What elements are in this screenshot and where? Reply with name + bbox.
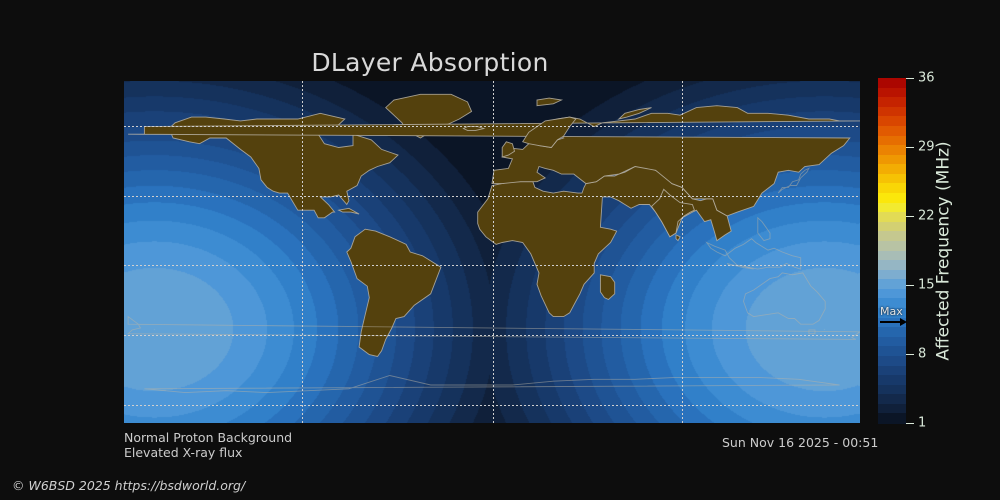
colorbar[interactable]: Max (878, 78, 906, 423)
coastline-overlay (124, 81, 860, 423)
colorbar-tick (906, 147, 914, 148)
landmass-new-zealand (128, 317, 860, 340)
colorbar-tick-label: 1 (918, 416, 926, 431)
max-marker: Max (878, 306, 918, 327)
landmass-japan (778, 168, 809, 193)
timestamp-text: Sun Nov 16 2025 - 00:51 (722, 435, 878, 450)
landmass-tasmania (809, 330, 815, 334)
colorbar-tick (906, 216, 914, 217)
landmass-madagascar (600, 275, 614, 300)
landmass-svalbard (537, 98, 562, 106)
landmass-australia (744, 273, 826, 324)
page-title: DLayer Absorption (0, 48, 860, 77)
landmass-antarctica-rim (144, 376, 839, 393)
max-marker-label: Max (878, 306, 918, 317)
dlayer-absorption-figure: DLayer Absorption Max 1815222936 Affecte… (0, 0, 1000, 500)
colorbar-segment (878, 413, 906, 423)
colorbar-tick (906, 354, 914, 355)
landmass-cuba (339, 208, 359, 214)
max-marker-arrow-icon (878, 317, 918, 327)
colorbar-tick (906, 423, 914, 424)
colorbar-tick (906, 285, 914, 286)
world-map[interactable] (124, 81, 860, 423)
colorbar-axis-label-text: Affected Frequency (MHz) (934, 141, 954, 360)
landmass-borneo-indonesia (707, 239, 801, 269)
colorbar-tick (906, 78, 914, 79)
copyright-footer: © W6BSD 2025 https://bsdworld.org/ (12, 478, 245, 493)
colorbar-tick-label: 8 (918, 347, 926, 362)
landmass-south-america (347, 229, 441, 356)
colorbar-axis-label: Affected Frequency (MHz) (932, 78, 956, 423)
landmass-sri-lanka (676, 235, 680, 241)
proton-status-text: Normal Proton Background (124, 430, 292, 445)
xray-status-text: Elevated X-ray flux (124, 445, 242, 460)
landmass-philippines (758, 218, 770, 241)
